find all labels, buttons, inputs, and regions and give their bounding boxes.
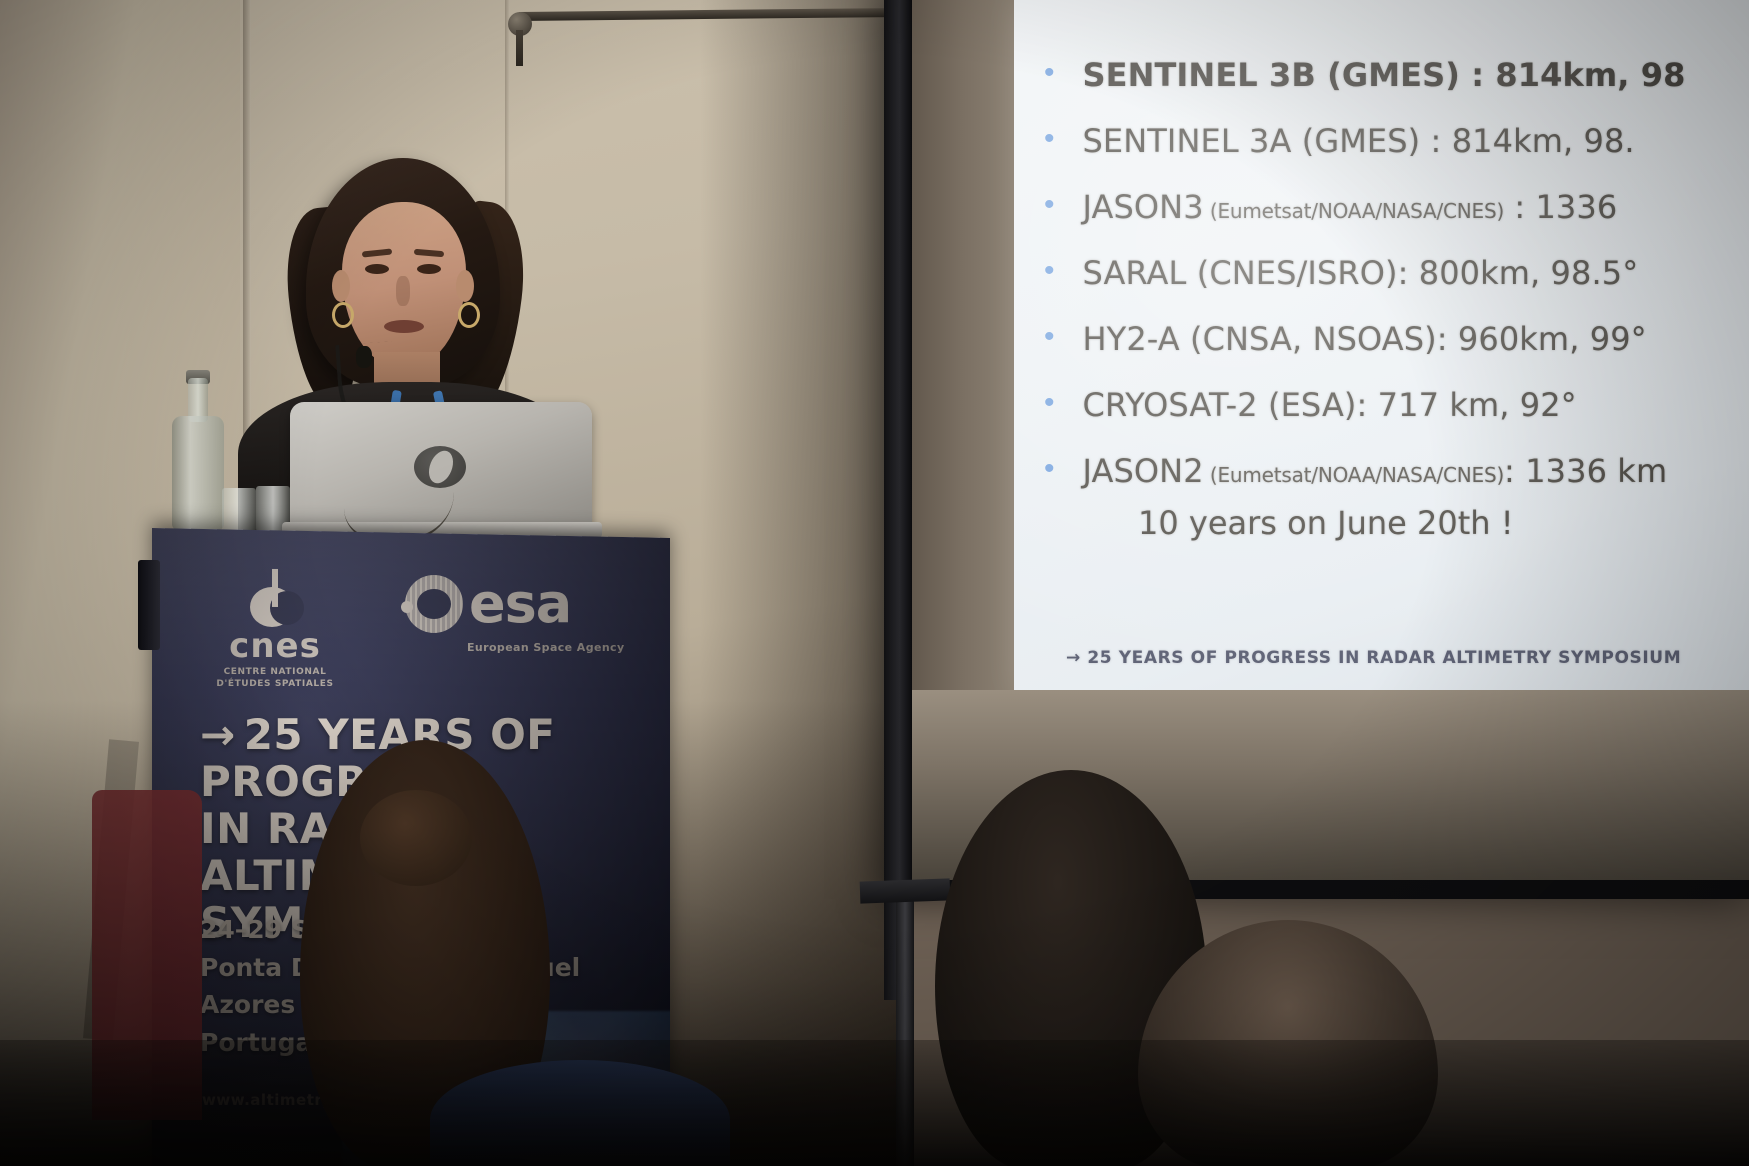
slide-footer-text: → 25 YEARS OF PROGRESS IN RADAR ALTIMETR… [1066,648,1681,668]
bullet-label: SENTINEL 3A (GMES) : 814km, 98. [1083,122,1635,160]
bullet-subtext: (Eumetsat/NOAA/NASA/CNES) [1204,199,1504,223]
slide-continuation-line: 10 years on June 20th ! [1138,504,1749,542]
speaker-ear-right [456,270,474,302]
bottle-body [172,416,224,530]
drinking-glass-1 [222,488,256,534]
bullet-value: : 1336 km [1504,452,1667,490]
speaker-mouth [384,320,424,333]
projected-slide: • SENTINEL 3B (GMES) : 814km, 98 • SENTI… [1014,0,1749,690]
speaker-eye-left [365,264,389,274]
bullet-label: HY2-A (CNSA, NSOAS): 960km, 99° [1083,320,1647,358]
slide-bullet-jason2: • JASON2 (Eumetsat/NOAA/NASA/CNES): 1336… [1044,452,1749,490]
slide-bullet-sentinel-3b: • SENTINEL 3B (GMES) : 814km, 98 [1044,56,1749,94]
projection-screen-left-margin [901,0,1015,690]
bullet-value: : 800km, 98.5° [1398,254,1639,292]
bullet-point-icon: • [1044,256,1055,286]
speaker-nose [396,276,410,306]
bullet-point-icon: • [1044,124,1055,154]
speaker-earring-right [458,302,480,328]
bullet-point-icon: • [1044,58,1055,88]
rail-drop-rod [516,30,523,66]
bullet-point-icon: • [1044,322,1055,352]
slide-bullet-jason3: • JASON3 (Eumetsat/NOAA/NASA/CNES) : 133… [1044,188,1749,226]
bullet-point-icon: • [1044,454,1055,484]
bullet-subtext: (Eumetsat/NOAA/NASA/CNES) [1204,463,1504,487]
speaker-earring-left [332,302,354,328]
laptop-brand-logo-icon [414,446,466,488]
bullet-label: SENTINEL 3B (GMES) : 814km, 98 [1083,56,1686,94]
bullet-value: : 717 km, 92° [1357,386,1577,424]
slide-bullet-hy2a: • HY2-A (CNSA, NSOAS): 960km, 99° [1044,320,1749,358]
audience-hair-bun [360,790,472,886]
bullet-point-icon: • [1044,190,1055,220]
microphone-head [356,346,372,368]
projection-screen-post [884,0,912,1000]
slide-content: • SENTINEL 3B (GMES) : 814km, 98 • SENTI… [1014,0,1749,690]
bullet-label: JASON3 (Eumetsat/NOAA/NASA/CNES) : 1336 [1083,188,1618,226]
bullet-label: SARAL (CNES/ISRO): 800km, 98.5° [1083,254,1639,292]
bullet-label: CRYOSAT-2 (ESA): 717 km, 92° [1083,386,1577,424]
bullet-value: : 814km, 98. [1420,122,1634,160]
presentation-photo: • SENTINEL 3B (GMES) : 814km, 98 • SENTI… [0,0,1749,1166]
bullet-label: JASON2 (Eumetsat/NOAA/NASA/CNES): 1336 k… [1083,452,1668,490]
slide-bullet-cryosat2: • CRYOSAT-2 (ESA): 717 km, 92° [1044,386,1749,424]
podium-side-fixture [138,560,160,650]
projection-screen-foot [860,878,951,903]
speaker-ear-left [332,270,350,302]
bullet-value: : 814km, 98 [1460,56,1686,94]
bullet-point-icon: • [1044,388,1055,418]
water-bottle [172,378,224,530]
slide-bullet-saral: • SARAL (CNES/ISRO): 800km, 98.5° [1044,254,1749,292]
foreground-shadow [0,1040,1749,1166]
bullet-value: : 960km, 99° [1437,320,1647,358]
speaker-eye-right [417,264,441,274]
slide-bullet-sentinel-3a: • SENTINEL 3A (GMES) : 814km, 98. [1044,122,1749,160]
bullet-value: : 1336 [1504,188,1617,226]
